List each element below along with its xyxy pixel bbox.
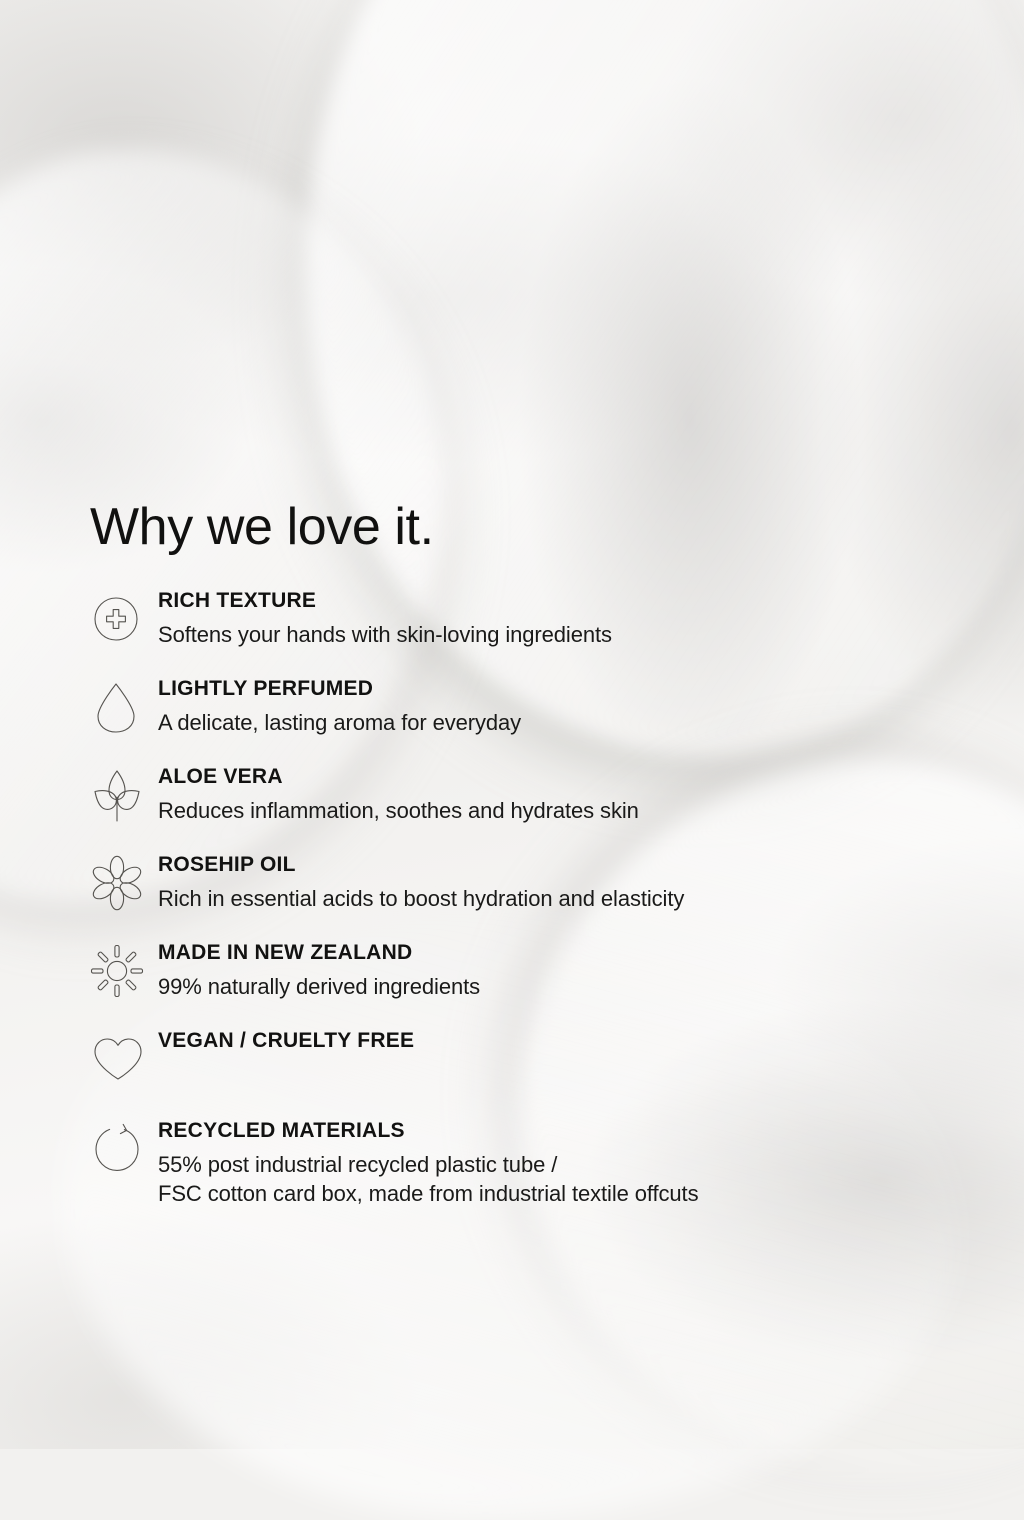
plus-circle-icon	[90, 586, 158, 650]
page-title: Why we love it.	[90, 501, 434, 553]
leaf-plant-icon	[90, 762, 158, 826]
benefit-text: MADE IN NEW ZEALAND 99% naturally derive…	[158, 938, 970, 1001]
benefit-item-vegan-cruelty-free: VEGAN / CRUELTY FREE	[90, 1026, 970, 1090]
benefit-text: VEGAN / CRUELTY FREE	[158, 1026, 970, 1053]
droplet-icon	[90, 674, 158, 738]
heart-icon	[90, 1026, 158, 1090]
benefit-text: ALOE VERA Reduces inflammation, soothes …	[158, 762, 970, 825]
benefit-description: Reduces inflammation, soothes and hydrat…	[158, 796, 970, 825]
benefit-heading: MADE IN NEW ZEALAND	[158, 941, 970, 965]
benefit-description: Softens your hands with skin-loving ingr…	[158, 620, 970, 649]
recycle-loop-icon	[90, 1116, 158, 1180]
benefit-item-lightly-perfumed: LIGHTLY PERFUMED A delicate, lasting aro…	[90, 674, 970, 738]
benefit-description: 55% post industrial recycled plastic tub…	[158, 1150, 970, 1209]
benefit-text: RICH TEXTURE Softens your hands with ski…	[158, 586, 970, 649]
benefit-heading: RICH TEXTURE	[158, 589, 970, 613]
benefit-heading: ROSEHIP OIL	[158, 853, 970, 877]
sun-icon	[90, 938, 158, 1002]
benefit-heading: ALOE VERA	[158, 765, 970, 789]
benefit-item-aloe-vera: ALOE VERA Reduces inflammation, soothes …	[90, 762, 970, 826]
benefit-text: RECYCLED MATERIALS 55% post industrial r…	[158, 1116, 970, 1208]
benefit-item-recycled-materials: RECYCLED MATERIALS 55% post industrial r…	[90, 1116, 970, 1208]
flower-icon	[90, 850, 158, 914]
benefit-text: ROSEHIP OIL Rich in essential acids to b…	[158, 850, 970, 913]
benefit-item-made-in-new-zealand: MADE IN NEW ZEALAND 99% naturally derive…	[90, 938, 970, 1002]
benefit-description: 99% naturally derived ingredients	[158, 972, 970, 1001]
benefit-heading: RECYCLED MATERIALS	[158, 1119, 970, 1143]
benefit-item-rich-texture: RICH TEXTURE Softens your hands with ski…	[90, 586, 970, 650]
benefit-description: Rich in essential acids to boost hydrati…	[158, 884, 970, 913]
benefit-description: A delicate, lasting aroma for everyday	[158, 708, 970, 737]
benefit-heading: VEGAN / CRUELTY FREE	[158, 1029, 970, 1053]
benefits-list: RICH TEXTURE Softens your hands with ski…	[90, 586, 970, 1232]
benefit-text: LIGHTLY PERFUMED A delicate, lasting aro…	[158, 674, 970, 737]
benefit-heading: LIGHTLY PERFUMED	[158, 677, 970, 701]
benefit-item-rosehip-oil: ROSEHIP OIL Rich in essential acids to b…	[90, 850, 970, 914]
